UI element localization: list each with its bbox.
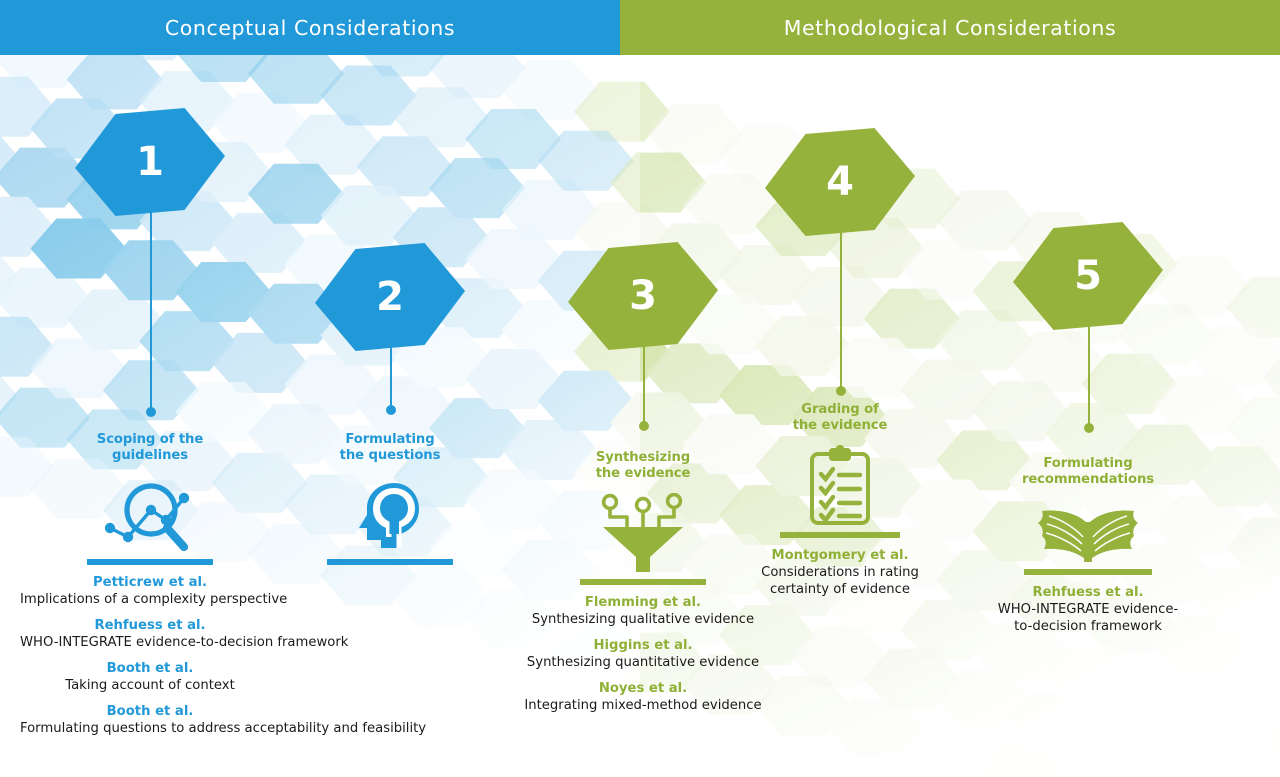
citation: Higgins et al. Synthesizing quantitative… (513, 637, 773, 671)
citation-description: Synthesizing quantitative evidence (513, 654, 773, 671)
step-column-2: Formulating the questions (270, 432, 510, 565)
step-3-citations: Flemming et al. Synthesizing qualitative… (513, 594, 773, 714)
step-4-title: Grading of the evidence (720, 402, 960, 435)
head-question-icon (353, 477, 427, 553)
step-1-citations: Petticrew et al. Implications of a compl… (20, 574, 280, 737)
magnifier-network-icon (103, 479, 197, 553)
citation-author: Rehfuess et al. (20, 617, 280, 634)
step-1-title: Scoping of the guidelines (20, 432, 280, 465)
step-4-citations: Montgomery et al. Considerations in rati… (720, 547, 960, 598)
step-3-rule (580, 579, 706, 585)
citation-author: Petticrew et al. (20, 574, 280, 591)
step-5-icon-wrap (968, 499, 1208, 565)
citation-description: WHO-INTEGRATE evidence-to-decision frame… (20, 634, 280, 651)
step-4-title-line1: Grading of (720, 402, 960, 418)
citation-author: Rehfuess et al. (968, 584, 1208, 601)
step-1-title-line1: Scoping of the (20, 432, 280, 448)
citation: Rehfuess et al. WHO-INTEGRATE evidence-t… (20, 617, 280, 651)
citation-description: WHO-INTEGRATE evidence- (968, 601, 1208, 618)
header-title-conceptual: Conceptual Considerations (165, 16, 455, 40)
stem-line (1088, 312, 1090, 428)
stem-dot (836, 386, 846, 396)
step-number-4: 4 (826, 159, 854, 205)
stem-line (390, 336, 392, 410)
citation: Rehfuess et al. WHO-INTEGRATE evidence- … (968, 584, 1208, 635)
step-4-title-line2: the evidence (720, 418, 960, 434)
citation-description: certainty of evidence (720, 581, 960, 598)
step-2-title: Formulating the questions (270, 432, 510, 465)
stem-dot (639, 421, 649, 431)
step-number-3: 3 (629, 273, 657, 319)
step-column-5: Formulating recommendations R (968, 456, 1208, 644)
infographic-canvas: Conceptual Considerations Methodological… (0, 0, 1280, 777)
stem-line (643, 340, 645, 426)
header-band-methodological: Methodological Considerations (620, 0, 1280, 55)
header-band-conceptual: Conceptual Considerations (0, 0, 620, 55)
citation-author: Noyes et al. (513, 680, 773, 697)
citation-description: to-decision framework (968, 618, 1208, 635)
stem-line (150, 196, 152, 412)
step-2-title-line2: the questions (270, 448, 510, 464)
stem-dot (386, 405, 396, 415)
clipboard-checklist-icon (804, 445, 876, 527)
citation-description: Considerations in rating (720, 564, 960, 581)
stem-dot (146, 407, 156, 417)
step-5-title-line1: Formulating (968, 456, 1208, 472)
citation-description: Taking account of context (20, 677, 280, 694)
step-1-title-line2: guidelines (20, 448, 280, 464)
citation-author: Montgomery et al. (720, 547, 960, 564)
citation-description: Formulating questions to address accepta… (20, 720, 280, 737)
citation-description: Synthesizing qualitative evidence (513, 611, 773, 628)
step-1-rule (87, 559, 213, 565)
step-2-rule (327, 559, 453, 565)
citation: Petticrew et al. Implications of a compl… (20, 574, 280, 608)
citation: Montgomery et al. Considerations in rati… (720, 547, 960, 598)
citation-description: Integrating mixed-method evidence (513, 697, 773, 714)
step-number-1: 1 (136, 139, 164, 185)
citation-author: Higgins et al. (513, 637, 773, 654)
step-column-1: Scoping of the guidelines Petticrew et a… (20, 432, 280, 746)
citation-author: Booth et al. (20, 660, 280, 677)
step-5-title-line2: recommendations (968, 472, 1208, 488)
step-5-citations: Rehfuess et al. WHO-INTEGRATE evidence- … (968, 584, 1208, 635)
header-title-methodological: Methodological Considerations (784, 16, 1117, 40)
step-2-icon-wrap (270, 475, 510, 553)
header-bands: Conceptual Considerations Methodological… (0, 0, 1280, 55)
stem-line (840, 219, 842, 391)
step-column-4: Grading of the evidence (720, 402, 960, 607)
step-5-rule (1024, 569, 1152, 575)
funnel-network-icon (599, 493, 687, 575)
step-4-icon-wrap (720, 443, 960, 527)
citation: Noyes et al. Integrating mixed-method ev… (513, 680, 773, 714)
stem-dot (1084, 423, 1094, 433)
step-5-title: Formulating recommendations (968, 456, 1208, 489)
step-2-title-line1: Formulating (270, 432, 510, 448)
citation-author: Booth et al. (20, 703, 280, 720)
citation-description: Implications of a complexity perspective (20, 591, 280, 608)
citation: Booth et al. Formulating questions to ad… (20, 703, 280, 737)
step-1-icon-wrap (20, 475, 280, 553)
open-book-icon (1033, 509, 1143, 565)
step-number-2: 2 (376, 274, 404, 320)
citation: Booth et al. Taking account of context (20, 660, 280, 694)
step-number-5: 5 (1074, 253, 1102, 299)
step-4-rule (780, 532, 900, 538)
